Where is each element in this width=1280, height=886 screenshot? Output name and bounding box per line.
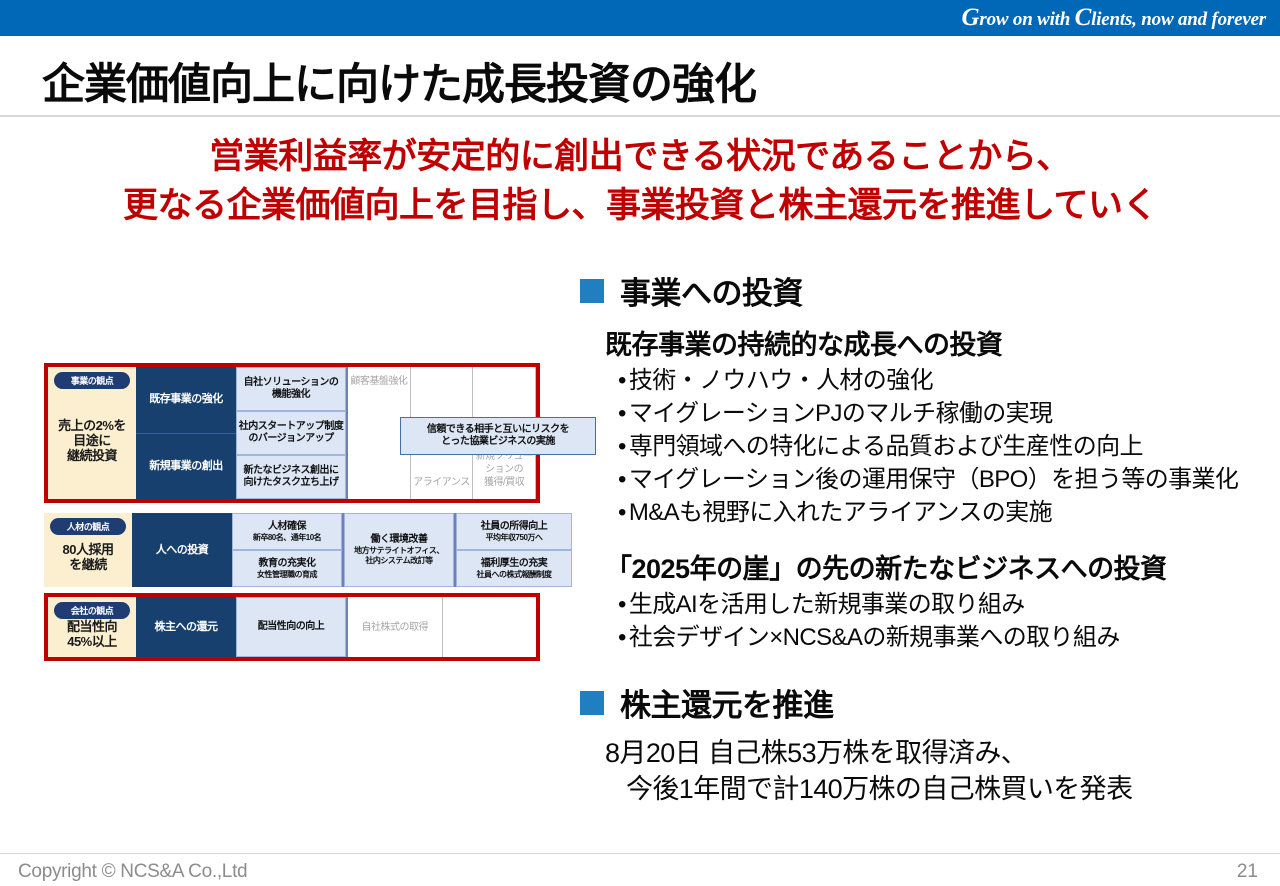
measure-education-detail: 女性管理職の育成 xyxy=(257,570,317,580)
copyright-text: Copyright © NCS&A Co.,Ltd xyxy=(18,861,247,883)
blue-square-icon xyxy=(580,691,604,715)
measures-col-hr-3: 社員の所得向上 平均年収750万へ 福利厚生の充実 社員への株式報酬制度 xyxy=(454,513,572,587)
section-label-business-investment: 事業への投資 xyxy=(620,268,803,313)
measure-income-title: 社員の所得向上 xyxy=(481,521,548,533)
bullet-list-2025-cliff: 生成AIを活用した新規事業の取り組み 社会デザイン×NCS&Aの新規事業への取り… xyxy=(618,588,1280,654)
measure-benefits-detail: 社員への株式報酬制度 xyxy=(477,570,552,580)
lead-message: 営業利益率が安定的に創出できる状況であることから、 更なる企業価値向上を目指し、… xyxy=(0,132,1280,230)
subheading-existing-growth: 既存事業の持続的な成長への投資 xyxy=(605,323,1280,362)
overlay-collaboration-business: 信頼できる相手と互いにリスクをとった協業ビジネスの実施 xyxy=(400,417,596,455)
measure-payout-ratio: 配当性向の向上 xyxy=(236,597,346,657)
navy-col-hr: 人への投資 xyxy=(132,513,232,587)
navy-col-business: 既存事業の強化 新規事業の創出 xyxy=(136,367,236,499)
list-item: 社会デザイン×NCS&Aの新規事業への取り組み xyxy=(618,621,1280,654)
measures-col-business: 自社ソリューションの機能強化 社内スタートアップ制度のバージョンアップ 新たなビ… xyxy=(236,367,348,499)
page-number: 21 xyxy=(1237,861,1258,883)
measure-income: 社員の所得向上 平均年収750万へ xyxy=(456,513,572,550)
measure-workplace-title: 働く環境改善 xyxy=(371,534,428,546)
measure-recruitment-detail: 新卒80名、通年10名 xyxy=(253,533,321,543)
perspective-text-business: 売上の2%を目途に継続投資 xyxy=(58,418,126,463)
grey-col-business: 顧客基盤強化 アライアンス 新規ソリューションの獲得/買収 信頼できる相手と互い… xyxy=(348,367,536,499)
grey-treasury-stock: 自社株式の取得 xyxy=(348,597,443,657)
measure-new-task: 新たなビジネス創出に向けたタスク立ち上げ xyxy=(236,455,346,499)
perspective-pill-company: 会社の観点 xyxy=(54,602,130,619)
measure-startup-program: 社内スタートアップ制度のバージョンアップ xyxy=(236,411,346,455)
grey-empty-company xyxy=(443,597,537,657)
measure-recruitment: 人材確保 新卒80名、通年10名 xyxy=(232,513,342,550)
measure-benefits: 福利厚生の充実 社員への株式報酬制度 xyxy=(456,550,572,587)
section-label-shareholder-return: 株主還元を推進 xyxy=(620,680,834,725)
section-header-shareholder-return: 株主還元を推進 xyxy=(580,680,1280,725)
company-tagline: Grow on with Clients, now and forever xyxy=(962,4,1266,32)
list-item: 生成AIを活用した新規事業の取り組み xyxy=(618,588,1280,621)
right-content-column: 事業への投資 既存事業の持続的な成長への投資 技術・ノウハウ・人材の強化 マイグ… xyxy=(580,268,1280,807)
navy-cell-shareholder-return: 株主への還元 xyxy=(136,597,236,657)
header-blue-bar: Grow on with Clients, now and forever xyxy=(0,0,1280,36)
tagline-text-2: lients, now and forever xyxy=(1091,9,1266,30)
perspective-col-company: 会社の観点 配当性向45%以上 xyxy=(48,597,136,657)
section-header-business-investment: 事業への投資 xyxy=(580,268,1280,313)
bullet-list-existing-growth: 技術・ノウハウ・人材の強化 マイグレーションPJのマルチ稼働の実現 専門領域への… xyxy=(618,364,1280,529)
investment-framework-diagram: 事業の観点 売上の2%を目途に継続投資 既存事業の強化 新規事業の創出 自社ソリ… xyxy=(44,363,540,661)
page-title: 企業価値向上に向けた成長投資の強化 xyxy=(42,50,756,112)
measure-benefits-title: 福利厚生の充実 xyxy=(481,558,548,570)
measure-education: 教育の充実化 女性管理職の育成 xyxy=(232,550,342,587)
spacer-1 xyxy=(580,529,1280,541)
navy-cell-existing: 既存事業の強化 xyxy=(136,367,236,434)
shareholder-return-line-1: 8月20日 自己株53万株を取得済み、 xyxy=(605,735,1280,771)
grey-col-company: 自社株式の取得 xyxy=(348,597,536,657)
shareholder-return-line-2: 今後1年間で計140万株の自己株買いを発表 xyxy=(626,771,1280,807)
measure-workplace: 働く環境改善 地方サテライトオフィス、社内システム改訂等 xyxy=(344,513,454,587)
measure-income-detail: 平均年収750万へ xyxy=(486,533,543,543)
measure-workplace-detail: 地方サテライトオフィス、社内システム改訂等 xyxy=(354,546,444,566)
navy-cell-new: 新規事業の創出 xyxy=(136,434,236,500)
spacer-2 xyxy=(580,654,1280,680)
blue-square-icon xyxy=(580,279,604,303)
measure-recruitment-title: 人材確保 xyxy=(268,521,306,533)
diagram-row-hr: 人材の観点 80人採用を継続 人への投資 人材確保 新卒80名、通年10名 教育… xyxy=(44,513,540,587)
measures-col-hr-1: 人材確保 新卒80名、通年10名 教育の充実化 女性管理職の育成 xyxy=(232,513,344,587)
perspective-text-hr: 80人採用を継続 xyxy=(63,542,114,572)
diagram-row-business: 事業の観点 売上の2%を目途に継続投資 既存事業の強化 新規事業の創出 自社ソリ… xyxy=(44,363,540,503)
list-item: 技術・ノウハウ・人材の強化 xyxy=(618,364,1280,397)
lead-line-2: 更なる企業価値向上を目指し、事業投資と株主還元を推進していく xyxy=(0,181,1280,230)
list-item: 専門領域への特化による品質および生産性の向上 xyxy=(618,430,1280,463)
measures-col-hr-2: 働く環境改善 地方サテライトオフィス、社内システム改訂等 xyxy=(344,513,454,587)
list-item: M&Aも視野に入れたアライアンスの実施 xyxy=(618,496,1280,529)
footer-divider xyxy=(0,853,1280,854)
tagline-cap-c: C xyxy=(1075,4,1091,31)
subheading-2025-cliff: 「2025年の崖」の先の新たなビジネスへの投資 xyxy=(605,547,1280,586)
perspective-pill-business: 事業の観点 xyxy=(54,372,130,389)
navy-cell-people: 人への投資 xyxy=(132,513,232,587)
list-item: マイグレーションPJのマルチ稼働の実現 xyxy=(618,397,1280,430)
list-item: マイグレーション後の運用保守（BPO）を担う等の事業化 xyxy=(618,463,1280,496)
diagram-row-company: 会社の観点 配当性向45%以上 株主への還元 配当性向の向上 自社株式の取得 xyxy=(44,593,540,661)
measures-col-company: 配当性向の向上 xyxy=(236,597,348,657)
tagline-text-1: row on with xyxy=(979,9,1074,30)
tagline-cap-g: G xyxy=(962,4,980,31)
measure-education-title: 教育の充実化 xyxy=(259,558,316,570)
title-divider xyxy=(0,115,1280,117)
lead-line-1: 営業利益率が安定的に創出できる状況であることから、 xyxy=(0,132,1280,181)
perspective-text-company: 配当性向45%以上 xyxy=(67,619,117,649)
slide-root: Grow on with Clients, now and forever 企業… xyxy=(0,0,1280,886)
measure-own-solution: 自社ソリューションの機能強化 xyxy=(236,367,346,411)
perspective-col-hr: 人材の観点 80人採用を継続 xyxy=(44,513,132,587)
perspective-pill-hr: 人材の観点 xyxy=(50,518,126,535)
navy-col-company: 株主への還元 xyxy=(136,597,236,657)
perspective-col-business: 事業の観点 売上の2%を目途に継続投資 xyxy=(48,367,136,499)
